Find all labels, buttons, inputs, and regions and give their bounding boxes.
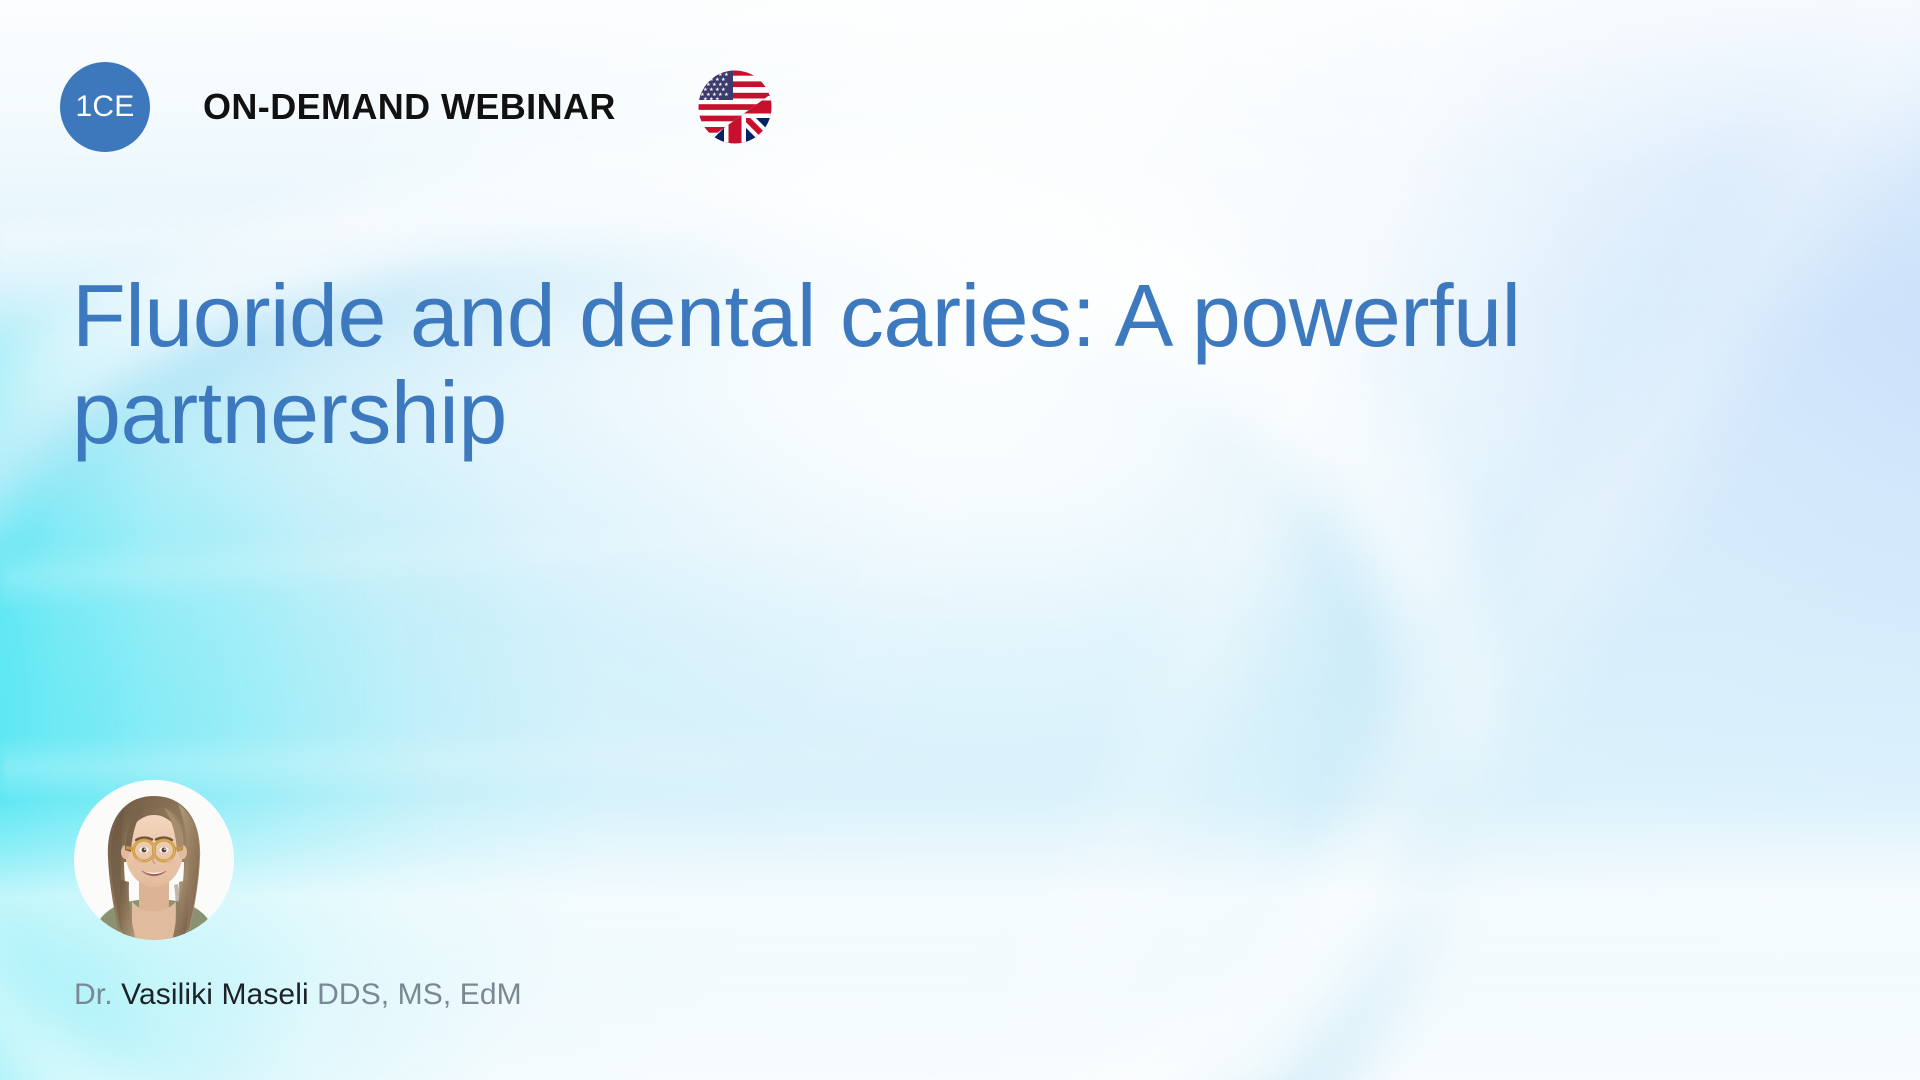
svg-text:★: ★ [724, 92, 729, 98]
svg-text:★: ★ [703, 77, 708, 83]
svg-text:★: ★ [715, 97, 720, 103]
webinar-type-label: ON-DEMAND WEBINAR [203, 89, 616, 125]
ce-credit-badge-label: 1CE [76, 92, 135, 122]
presenter-name: Dr. Vasiliki Maseli DDS, MS, EdM [74, 980, 522, 1010]
presenter-name-prefix: Dr. [74, 978, 113, 1011]
svg-text:★: ★ [706, 72, 711, 78]
slide-header: 1CE ON-DEMAND WEBINAR [60, 62, 772, 152]
us-uk-flag-icon: ★★★ ★★ ★★★ ★ ★★★ ★★ ★★★ ★ ★★★ ★★ ★★★ [698, 70, 772, 144]
page-title: Fluoride and dental caries: A powerful p… [72, 268, 1772, 462]
ce-credit-badge: 1CE [60, 62, 150, 152]
avatar [74, 780, 234, 940]
svg-text:★: ★ [703, 97, 708, 103]
presenter-name-main: Vasiliki Maseli [121, 978, 309, 1011]
svg-text:★: ★ [709, 97, 714, 103]
presenter-block: Dr. Vasiliki Maseli DDS, MS, EdM [74, 780, 234, 940]
presenter-credentials: DDS, MS, EdM [317, 978, 522, 1011]
svg-text:★: ★ [700, 82, 705, 88]
webinar-title-slide: 1CE ON-DEMAND WEBINAR [0, 0, 1920, 1080]
svg-text:★: ★ [700, 72, 705, 78]
